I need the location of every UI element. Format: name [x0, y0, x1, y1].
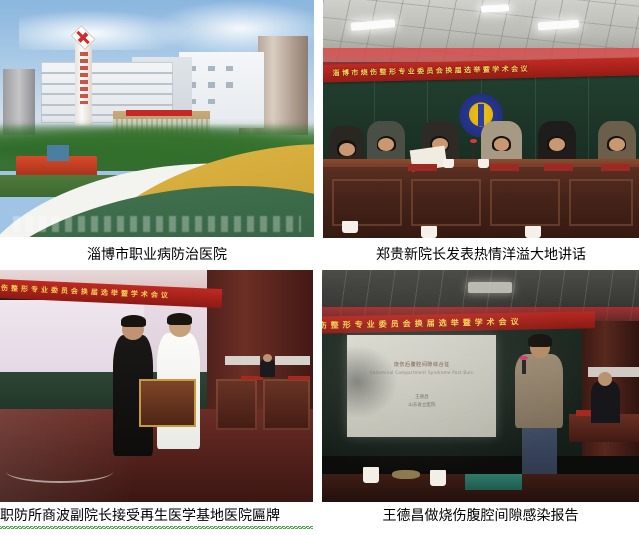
window	[208, 66, 215, 71]
award-plaque	[141, 381, 194, 425]
projector-lecture-photo[interactable]: 伤整形专业委员会换届选举暨学术会议 烧伤后腹腔间隙综合征 Abdominal C…	[322, 270, 639, 502]
plaque-handover-photo[interactable]: 伤整形专业委员会换届选举暨学术会议	[0, 270, 313, 502]
seated-person	[591, 381, 620, 423]
floor-line	[41, 93, 173, 95]
ceiling-lamp	[468, 282, 512, 294]
slide-author: 王德昌	[392, 394, 452, 400]
person-hair	[167, 313, 192, 325]
wall-stripe	[275, 356, 309, 365]
document-page: 淄博市职业病防治医院 淄博市烧伤整形专业委员会换届选举暨学术会议	[0, 0, 639, 535]
person-hair	[121, 315, 146, 327]
person-head	[598, 372, 612, 386]
projection-screen: 烧伤后腹腔间隙综合征 Abdominal Compartment Syndrom…	[347, 335, 496, 437]
figure-2-caption: 郑贵新院长发表热情洋溢大地讲话	[323, 245, 639, 265]
microphone	[522, 360, 526, 374]
table-panel	[490, 179, 560, 227]
figure-4-caption: 王德昌做烧伤腹腔间隙感染报告	[322, 506, 639, 526]
tea-cup	[478, 159, 489, 167]
figure-1-caption: 淄博市职业病防治医院	[0, 245, 314, 265]
red-folder	[288, 376, 310, 381]
person-head	[263, 354, 272, 362]
window	[208, 99, 215, 104]
floor-line	[41, 72, 173, 74]
ceiling-lamp	[481, 4, 510, 13]
tea-cup	[342, 221, 358, 233]
red-folder	[601, 164, 629, 171]
figure-4-container: 伤整形专业委员会换届选举暨学术会议 烧伤后腹腔间隙综合征 Abdominal C…	[322, 270, 639, 526]
slide-affiliation: 山东省立医院	[389, 402, 455, 408]
floor-line	[41, 104, 173, 106]
person-head	[549, 138, 565, 151]
microphone	[472, 143, 476, 160]
hospital-exterior-photo[interactable]	[0, 0, 314, 237]
slide-title-cn: 烧伤后腹腔间隙综合征	[380, 361, 463, 368]
person-head	[609, 138, 625, 151]
red-folder	[544, 164, 572, 171]
conference-banner-text: 伤整形专业委员会换届选举暨学术会议	[0, 283, 170, 301]
desk-object	[392, 470, 421, 479]
wall-stripe	[588, 367, 639, 376]
wall-stripe	[225, 356, 259, 365]
fire-engine-cab	[47, 145, 69, 162]
figure-3-container: 伤整形专业委员会换届选举暨学术会议 职防所商波副院长接受再生医学基地医院匾牌	[0, 270, 313, 529]
window	[226, 66, 233, 71]
table-panel	[411, 179, 481, 227]
tea-cup	[421, 226, 437, 238]
vertical-sign-text	[80, 52, 88, 104]
side-table-left	[216, 379, 257, 430]
conference-banner-text: 伤整形专业委员会换届选举暨学术会议	[322, 316, 522, 331]
red-folder	[490, 164, 518, 171]
figure-3-caption: 职防所商波副院长接受再生医学基地医院匾牌	[0, 506, 313, 529]
tea-cup	[525, 226, 541, 238]
conference-banner-text: 淄博市烧伤整形专业委员会换届选举暨学术会议	[332, 64, 530, 78]
floor-line	[41, 83, 173, 85]
table-panel	[332, 179, 402, 227]
figure-1-container: 淄博市职业病防治医院	[0, 0, 314, 265]
entrance-sign	[126, 110, 192, 116]
floor-cable	[6, 460, 112, 483]
figure-2-container: 淄博市烧伤整形专业委员会换届选举暨学术会议	[323, 0, 639, 265]
side-table-right	[263, 379, 310, 430]
red-folder	[408, 164, 436, 171]
person-head	[339, 143, 355, 156]
paper-cup	[430, 470, 446, 486]
table-panel	[569, 179, 632, 227]
window	[208, 82, 215, 87]
paper-cup	[363, 467, 379, 483]
tea-cup	[443, 159, 454, 167]
slide-title-en: Abdominal Compartment Syndrome Post Burn	[368, 370, 475, 375]
head-table-speech-photo[interactable]: 淄博市烧伤整形专业委员会换届选举暨学术会议	[323, 0, 639, 238]
window	[226, 82, 233, 87]
speaker-hair	[528, 334, 552, 347]
banner-blurred-text	[13, 216, 302, 233]
green-box	[465, 474, 522, 490]
